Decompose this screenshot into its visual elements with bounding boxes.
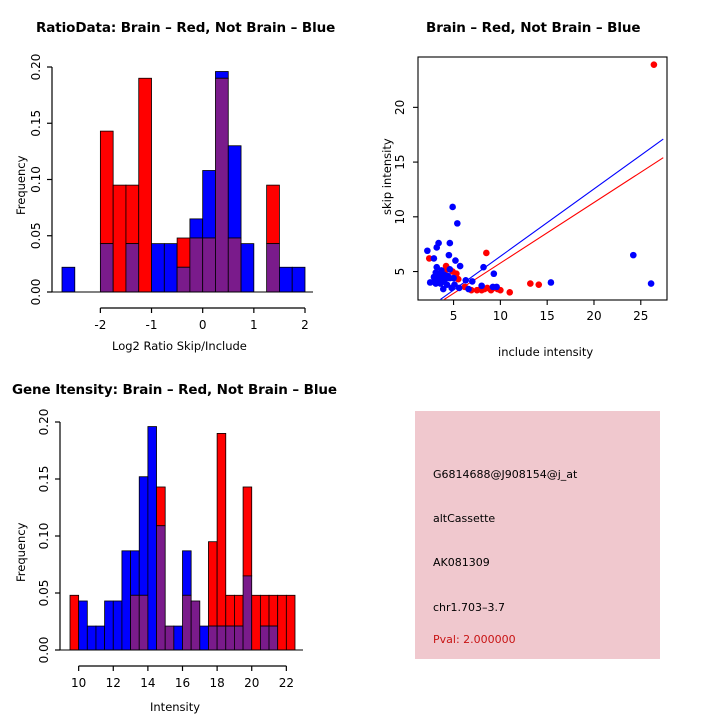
gene-hist-ylabel: Frequency — [14, 523, 28, 582]
scatter-plot: 5101520510152025 — [360, 0, 720, 340]
svg-text:10: 10 — [493, 309, 508, 323]
svg-text:20: 20 — [586, 309, 601, 323]
locus-text: chr1.703–3.7 — [433, 601, 505, 614]
ratio-hist-xlabel: Log2 Ratio Skip/Include — [112, 339, 247, 353]
panel-gene-histogram: Gene Itensity: Brain – Red, Not Brain – … — [0, 360, 360, 720]
svg-text:25: 25 — [633, 309, 648, 323]
svg-text:0.20: 0.20 — [37, 409, 51, 436]
svg-text:0.10: 0.10 — [29, 166, 43, 193]
svg-text:0.15: 0.15 — [29, 110, 43, 137]
svg-text:18: 18 — [209, 676, 224, 690]
svg-text:5: 5 — [450, 309, 458, 323]
accession-text: AK081309 — [433, 556, 490, 569]
gene-hist-title: Gene Itensity: Brain – Red, Not Brain – … — [12, 382, 337, 398]
panel-probe-info: G6814688@J908154@j_at altCassette AK0813… — [415, 411, 660, 659]
gene-hist-plot: 0.000.050.100.150.2010121416182022 — [0, 360, 360, 695]
svg-text:0.15: 0.15 — [37, 466, 51, 493]
scatter-xlabel: include intensity — [498, 345, 593, 359]
svg-text:-2: -2 — [94, 318, 106, 330]
svg-text:15: 15 — [540, 309, 555, 323]
svg-text:2: 2 — [301, 318, 309, 330]
ratio-hist-ylabel: Frequency — [14, 156, 28, 215]
svg-text:14: 14 — [140, 676, 155, 690]
svg-text:20: 20 — [244, 676, 259, 690]
svg-text:1: 1 — [250, 318, 258, 330]
figure-canvas: RatioData: Brain – Red, Not Brain – Blue… — [0, 0, 720, 720]
svg-text:16: 16 — [175, 676, 190, 690]
event-type-text: altCassette — [433, 512, 495, 525]
svg-text:12: 12 — [106, 676, 121, 690]
svg-text:5: 5 — [393, 268, 407, 276]
svg-text:0.00: 0.00 — [37, 637, 51, 664]
panel-intensity-scatter: Brain – Red, Not Brain – Blue skip inten… — [360, 0, 720, 360]
svg-text:15: 15 — [393, 154, 407, 169]
gene-hist-xlabel: Intensity — [150, 700, 200, 714]
scatter-ylabel: skip intensity — [380, 138, 394, 215]
pval-text: Pval: 2.000000 — [433, 633, 516, 646]
svg-text:20: 20 — [393, 100, 407, 115]
ratio-hist-title: RatioData: Brain – Red, Not Brain – Blue — [36, 20, 335, 36]
svg-text:0.05: 0.05 — [37, 580, 51, 607]
probe-id-text: G6814688@J908154@j_at — [433, 468, 577, 481]
panel-ratio-histogram: RatioData: Brain – Red, Not Brain – Blue… — [0, 0, 360, 360]
svg-text:10: 10 — [71, 676, 86, 690]
ratio-hist-plot: 0.000.050.100.150.20-2-1012 — [0, 0, 360, 330]
svg-text:0.10: 0.10 — [37, 523, 51, 550]
svg-text:0.05: 0.05 — [29, 222, 43, 249]
svg-text:0: 0 — [199, 318, 207, 330]
svg-text:0.00: 0.00 — [29, 279, 43, 306]
svg-text:22: 22 — [279, 676, 294, 690]
svg-text:10: 10 — [393, 209, 407, 224]
svg-text:0.20: 0.20 — [29, 54, 43, 81]
svg-text:-1: -1 — [146, 318, 158, 330]
scatter-title: Brain – Red, Not Brain – Blue — [426, 20, 640, 36]
